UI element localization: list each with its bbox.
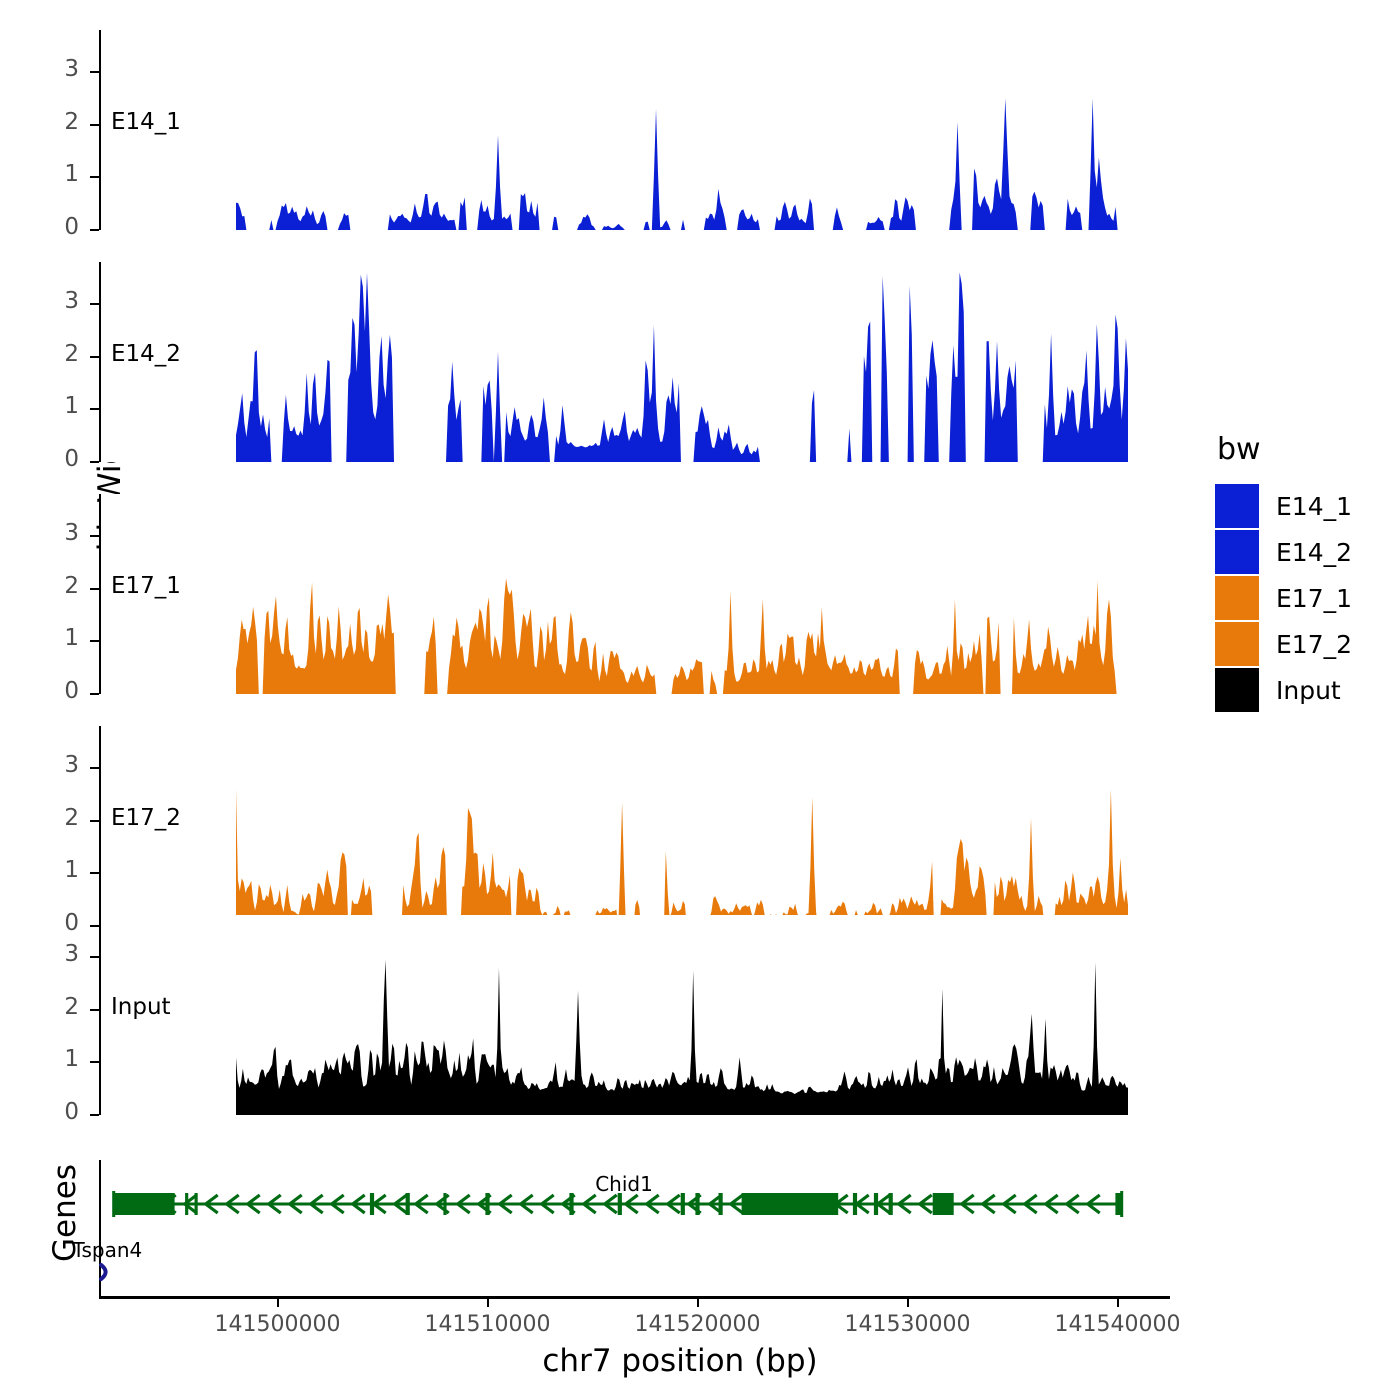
x-tick-label: 141530000 <box>845 1312 971 1337</box>
exon-block <box>185 1193 188 1215</box>
x-tick-label: 141520000 <box>635 1312 761 1337</box>
y-tick-mark <box>90 693 99 695</box>
track-panel-e17_2 <box>99 726 1176 926</box>
exon-block <box>695 1193 699 1215</box>
exon-block <box>114 1193 175 1215</box>
exon-block <box>889 1193 893 1215</box>
y-tick-label: 2 <box>24 994 79 1020</box>
y-tick-label: 1 <box>24 393 79 419</box>
y-tick-label: 0 <box>24 1099 79 1125</box>
track-panel-e14_1 <box>99 30 1176 230</box>
x-tick-mark <box>487 1299 489 1307</box>
track-panel-e14_2 <box>99 262 1176 462</box>
exon-block <box>443 1193 446 1215</box>
track-label-e14_2: E14_2 <box>111 341 181 367</box>
x-tick-mark <box>1117 1299 1119 1307</box>
legend-item-label: E17_1 <box>1276 584 1352 613</box>
x-tick-mark <box>277 1299 279 1307</box>
y-tick-label: 0 <box>24 910 79 936</box>
y-tick-mark <box>90 1009 99 1011</box>
gene-boundary-tick <box>112 1191 115 1217</box>
genes-panel-title: Genes <box>47 1113 83 1313</box>
coverage-area <box>236 789 1128 926</box>
legend-item-e14_2[interactable]: E14_2 <box>1215 529 1352 575</box>
legend-color-swatch <box>1215 530 1259 574</box>
y-tick-label: 1 <box>24 161 79 187</box>
exon-block <box>370 1193 374 1215</box>
exon-block <box>406 1193 410 1215</box>
y-tick-label: 3 <box>24 520 79 546</box>
coverage-track-e14_1 <box>99 30 1176 230</box>
legend-items: E14_1E14_2E17_1E17_2Input <box>1215 483 1352 713</box>
legend-item-e14_1[interactable]: E14_1 <box>1215 483 1352 529</box>
legend-item-label: E14_1 <box>1276 492 1352 521</box>
y-tick-mark <box>90 303 99 305</box>
exon-block <box>485 1193 489 1215</box>
y-tick-mark <box>90 176 99 178</box>
x-tick-label: 141500000 <box>215 1312 341 1337</box>
legend: bw E14_1E14_2E17_1E17_2Input <box>1215 432 1352 713</box>
strand-arrow-icon <box>101 1265 106 1279</box>
y-tick-mark <box>90 408 99 410</box>
track-label-input: Input <box>111 994 171 1020</box>
y-tick-label: 1 <box>24 857 79 883</box>
y-tick-mark <box>90 535 99 537</box>
coverage-area <box>236 273 1128 462</box>
y-tick-mark <box>90 820 99 822</box>
y-tick-mark <box>90 356 99 358</box>
x-axis-line <box>99 1296 1170 1299</box>
coverage-track-input <box>99 915 1176 1115</box>
legend-color-swatch <box>1215 622 1259 666</box>
y-tick-mark <box>90 588 99 590</box>
y-tick-label: 3 <box>24 288 79 314</box>
legend-title: bw <box>1215 432 1352 467</box>
track-label-e17_2: E17_2 <box>111 805 181 831</box>
legend-color-swatch <box>1215 576 1259 620</box>
y-tick-label: 2 <box>24 805 79 831</box>
y-tick-mark <box>90 925 99 927</box>
legend-color-swatch <box>1215 668 1259 712</box>
legend-item-label: Input <box>1276 676 1341 705</box>
exon-block <box>618 1193 622 1215</box>
exon-block <box>719 1193 723 1215</box>
y-tick-label: 0 <box>24 678 79 704</box>
coverage-area <box>236 960 1128 1115</box>
exon-block <box>853 1193 857 1215</box>
exon-block <box>933 1193 954 1215</box>
y-tick-mark <box>90 229 99 231</box>
y-tick-label: 2 <box>24 573 79 599</box>
y-tick-mark <box>90 872 99 874</box>
gene-boundary-tick <box>1120 1191 1123 1217</box>
coverage-area <box>236 98 1128 230</box>
y-tick-label: 1 <box>24 1046 79 1072</box>
track-panel-input <box>99 915 1176 1115</box>
gene-label-chid1: Chid1 <box>595 1172 653 1196</box>
x-tick-label: 141510000 <box>425 1312 551 1337</box>
exon-block <box>195 1193 198 1215</box>
exon-block <box>569 1193 573 1215</box>
y-tick-label: 1 <box>24 625 79 651</box>
exon-block <box>874 1193 878 1215</box>
coverage-area <box>236 578 1128 694</box>
y-tick-label: 0 <box>24 446 79 472</box>
legend-item-e17_1[interactable]: E17_1 <box>1215 575 1352 621</box>
intron-line <box>114 1203 1122 1206</box>
coverage-track-e17_1 <box>99 494 1176 694</box>
gene-label-tspan4: Tspan4 <box>73 1238 143 1262</box>
y-tick-label: 3 <box>24 56 79 82</box>
track-label-e14_1: E14_1 <box>111 109 181 135</box>
y-tick-mark <box>90 1061 99 1063</box>
y-tick-label: 2 <box>24 109 79 135</box>
legend-item-e17_2[interactable]: E17_2 <box>1215 621 1352 667</box>
y-tick-label: 0 <box>24 214 79 240</box>
y-tick-label: 2 <box>24 341 79 367</box>
x-tick-mark <box>907 1299 909 1307</box>
x-tick-label: 141540000 <box>1055 1312 1181 1337</box>
exon-block <box>681 1193 685 1215</box>
x-tick-mark <box>697 1299 699 1307</box>
y-tick-mark <box>90 956 99 958</box>
genome-browser-figure: bigWig Genes chr7 position (bp) 14150000… <box>0 0 1400 1400</box>
legend-item-input[interactable]: Input <box>1215 667 1352 713</box>
y-tick-mark <box>90 640 99 642</box>
coverage-track-e17_2 <box>99 726 1176 926</box>
coverage-track-e14_2 <box>99 262 1176 462</box>
track-panel-e17_1 <box>99 494 1176 694</box>
legend-item-label: E17_2 <box>1276 630 1352 659</box>
y-tick-mark <box>90 1114 99 1116</box>
y-tick-mark <box>90 71 99 73</box>
gene-tspan4[interactable] <box>101 1265 106 1279</box>
track-label-e17_1: E17_1 <box>111 573 181 599</box>
y-tick-mark <box>90 767 99 769</box>
exon-block <box>742 1193 839 1215</box>
legend-color-swatch <box>1215 484 1259 528</box>
y-tick-label: 3 <box>24 941 79 967</box>
y-tick-mark <box>90 461 99 463</box>
y-tick-label: 3 <box>24 752 79 778</box>
legend-item-label: E14_2 <box>1276 538 1352 567</box>
x-axis-title: chr7 position (bp) <box>180 1343 1180 1379</box>
y-tick-mark <box>90 124 99 126</box>
